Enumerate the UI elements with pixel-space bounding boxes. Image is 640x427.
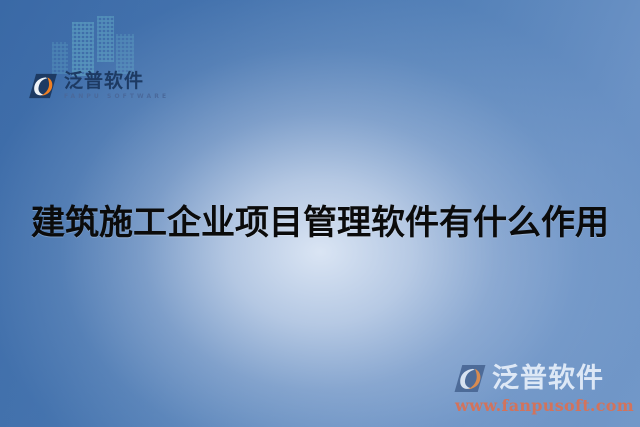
- brand-logo-top[interactable]: 泛普软件 FANPU SOFTWARE: [28, 72, 169, 100]
- page-title: 建筑施工企业项目管理软件有什么作用: [0, 203, 640, 243]
- promo-banner: 泛普软件 FANPU SOFTWARE 建筑施工企业项目管理软件有什么作用 泛普…: [0, 0, 640, 427]
- fanpu-logo-mark-icon: [453, 364, 487, 393]
- brand-name-en: FANPU SOFTWARE: [64, 94, 169, 100]
- fanpu-logo-mark-icon: [28, 73, 58, 99]
- watermark-url: www.fanpusoft.com: [455, 396, 634, 415]
- watermark-brand-name: 泛普软件: [492, 365, 604, 392]
- brand-watermark-bottom: 泛普软件 www.fanpusoft.com: [453, 364, 634, 415]
- brand-name-cn: 泛普软件: [64, 72, 169, 91]
- pixel-mosaic-decor-icon: [52, 14, 136, 76]
